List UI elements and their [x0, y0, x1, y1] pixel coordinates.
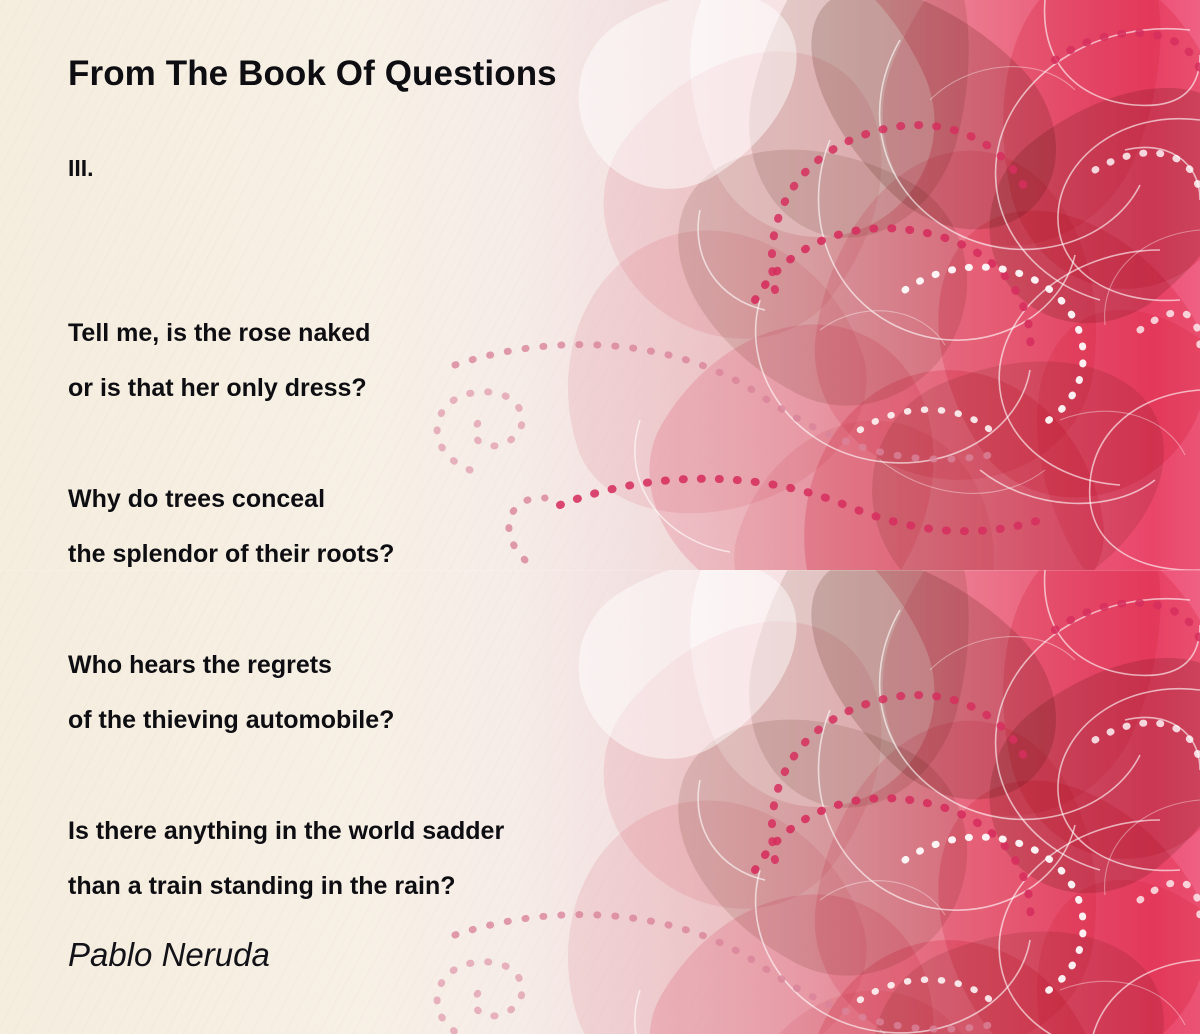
poem-text-container: From The Book Of Questions III. Tell me,…	[0, 0, 1200, 1034]
poem-line: Who hears the regrets	[68, 638, 1068, 693]
poem-image-card: From The Book Of Questions III. Tell me,…	[0, 0, 1200, 1034]
poem-body: Tell me, is the rose naked or is that he…	[68, 306, 1068, 914]
poem-line: or is that her only dress?	[68, 361, 1068, 416]
poem-line: Why do trees conceal	[68, 472, 1068, 527]
poem-stanza: Is there anything in the world sadder th…	[68, 804, 1068, 914]
poem-author: Pablo Neruda	[68, 936, 270, 974]
poem-line: the splendor of their roots?	[68, 527, 1068, 582]
poem-stanza: Tell me, is the rose naked or is that he…	[68, 306, 1068, 416]
poem-line: Is there anything in the world sadder	[68, 804, 1068, 859]
poem-line: than a train standing in the rain?	[68, 859, 1068, 914]
poem-stanza: Why do trees conceal the splendor of the…	[68, 472, 1068, 582]
poem-line: of the thieving automobile?	[68, 693, 1068, 748]
poem-title: From The Book Of Questions	[68, 54, 557, 94]
poem-section-number: III.	[68, 155, 94, 182]
poem-line: Tell me, is the rose naked	[68, 306, 1068, 361]
poem-stanza: Who hears the regrets of the thieving au…	[68, 638, 1068, 748]
